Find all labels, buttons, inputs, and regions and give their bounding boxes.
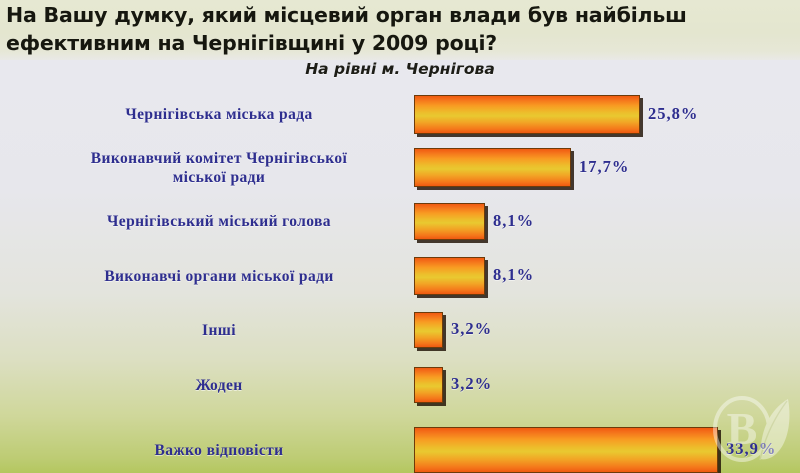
page-title: На Вашу думку, який місцевий орган влади… <box>6 1 798 57</box>
bar-container <box>414 427 718 473</box>
category-label-line: Виконавчі органи міської ради <box>24 267 414 286</box>
slide-canvas: На Вашу думку, який місцевий орган влади… <box>0 0 800 473</box>
category-label: Чернігівський міський голова <box>24 212 414 231</box>
category-label-line: Інші <box>24 321 414 340</box>
bar-value-label: 17,7% <box>579 157 629 177</box>
bar-value-label: 8,1% <box>493 211 534 231</box>
category-label: Виконавчі органи міської ради <box>24 267 414 286</box>
bar-container <box>414 95 640 134</box>
bar <box>414 148 571 187</box>
category-label-line: Жоден <box>24 376 414 395</box>
title-band: На Вашу думку, який місцевий орган влади… <box>0 0 800 60</box>
category-label: Інші <box>24 321 414 340</box>
category-label: Жоден <box>24 376 414 395</box>
chart-row: Інші3,2% <box>0 312 800 348</box>
chart-row: Жоден3,2% <box>0 367 800 403</box>
bar-container <box>414 148 571 187</box>
bar <box>414 312 443 348</box>
bar-chart: Чернігівська міська рада25,8%Виконавчий … <box>0 84 800 473</box>
bar-value-label: 25,8% <box>648 104 698 124</box>
category-label: Важко відповісти <box>24 441 414 460</box>
chart-row: Важко відповісти33,9% <box>0 427 800 473</box>
bar <box>414 203 485 240</box>
category-label: Чернігівська міська рада <box>24 105 414 124</box>
bar-value-label: 3,2% <box>451 319 492 339</box>
chart-row: Виконавчий комітет Чернігівськоїміської … <box>0 148 800 187</box>
bar <box>414 367 443 403</box>
category-label-line: Чернігівський міський голова <box>24 212 414 231</box>
chart-subtitle: На рівні м. Чернігова <box>0 60 800 78</box>
bar-value-label: 33,9% <box>726 439 776 459</box>
category-label-line: Чернігівська міська рада <box>24 105 414 124</box>
bar-value-label: 3,2% <box>451 374 492 394</box>
bar <box>414 95 640 134</box>
category-label-line: Важко відповісти <box>24 441 414 460</box>
chart-row: Чернігівська міська рада25,8% <box>0 95 800 134</box>
bar-container <box>414 203 485 240</box>
bar <box>414 257 485 295</box>
category-label-line: міської ради <box>24 168 414 187</box>
chart-row: Чернігівський міський голова8,1% <box>0 203 800 240</box>
bar-container <box>414 257 485 295</box>
chart-row: Виконавчі органи міської ради8,1% <box>0 257 800 295</box>
bar <box>414 427 718 473</box>
category-label-line: Виконавчий комітет Чернігівської <box>24 149 414 168</box>
page-title-line-2: ефективним на Чернігівщині у 2009 році? <box>6 29 798 57</box>
bar-container <box>414 367 443 403</box>
bar-container <box>414 312 443 348</box>
page-title-line-1: На Вашу думку, який місцевий орган влади… <box>6 1 798 29</box>
bar-value-label: 8,1% <box>493 265 534 285</box>
category-label: Виконавчий комітет Чернігівськоїміської … <box>24 149 414 187</box>
